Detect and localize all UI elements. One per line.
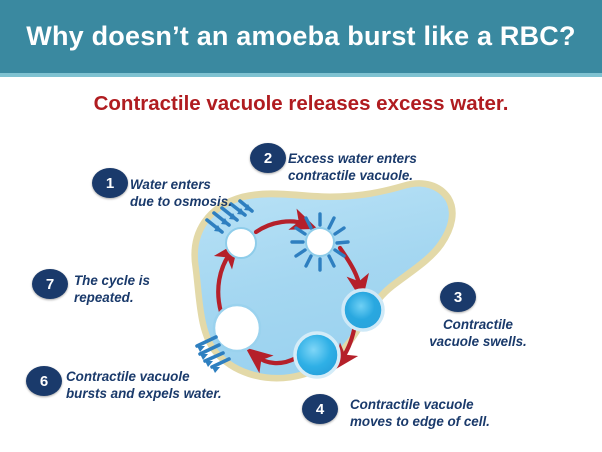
callout-3-line1: Contractile: [418, 316, 538, 333]
callout-text-6: Contractile vacuole bursts and expels wa…: [66, 368, 222, 402]
vacuole-bursting: [214, 305, 260, 351]
callout-badge-7: 7: [32, 269, 68, 299]
callout-7-line1: The cycle is: [74, 272, 150, 289]
callout-7-line2: repeated.: [74, 289, 150, 306]
callout-4-line2: moves to edge of cell.: [350, 413, 490, 430]
callout-3-line2: vacuole swells.: [418, 333, 538, 350]
callout-badge-3: 3: [440, 282, 476, 312]
callout-2-line1: Excess water enters: [288, 150, 417, 167]
callout-text-2: Excess water enters contractile vacuole.: [288, 150, 417, 184]
callout-text-1: Water enters due to osmosis.: [130, 176, 232, 210]
vacuole-empty-top: [226, 228, 256, 258]
vacuole-swollen-right: [343, 290, 383, 330]
callout-badge-2: 2: [250, 143, 286, 173]
callout-text-3: Contractile vacuole swells.: [418, 316, 538, 350]
callout-4-line1: Contractile vacuole: [350, 396, 490, 413]
slide-canvas: Why doesn’t an amoeba burst like a RBC? …: [0, 0, 602, 452]
callout-1-line1: Water enters: [130, 176, 232, 193]
vacuole-at-edge: [295, 333, 339, 377]
callout-2-line2: contractile vacuole.: [288, 167, 417, 184]
callout-1-line2: due to osmosis.: [130, 193, 232, 210]
callout-text-4: Contractile vacuole moves to edge of cel…: [350, 396, 490, 430]
callout-6-line2: bursts and expels water.: [66, 385, 222, 402]
callout-badge-6: 6: [26, 366, 62, 396]
callout-badge-1: 1: [92, 168, 128, 198]
callout-text-7: The cycle is repeated.: [74, 272, 150, 306]
callout-badge-4: 4: [302, 394, 338, 424]
callout-6-line1: Contractile vacuole: [66, 368, 222, 385]
